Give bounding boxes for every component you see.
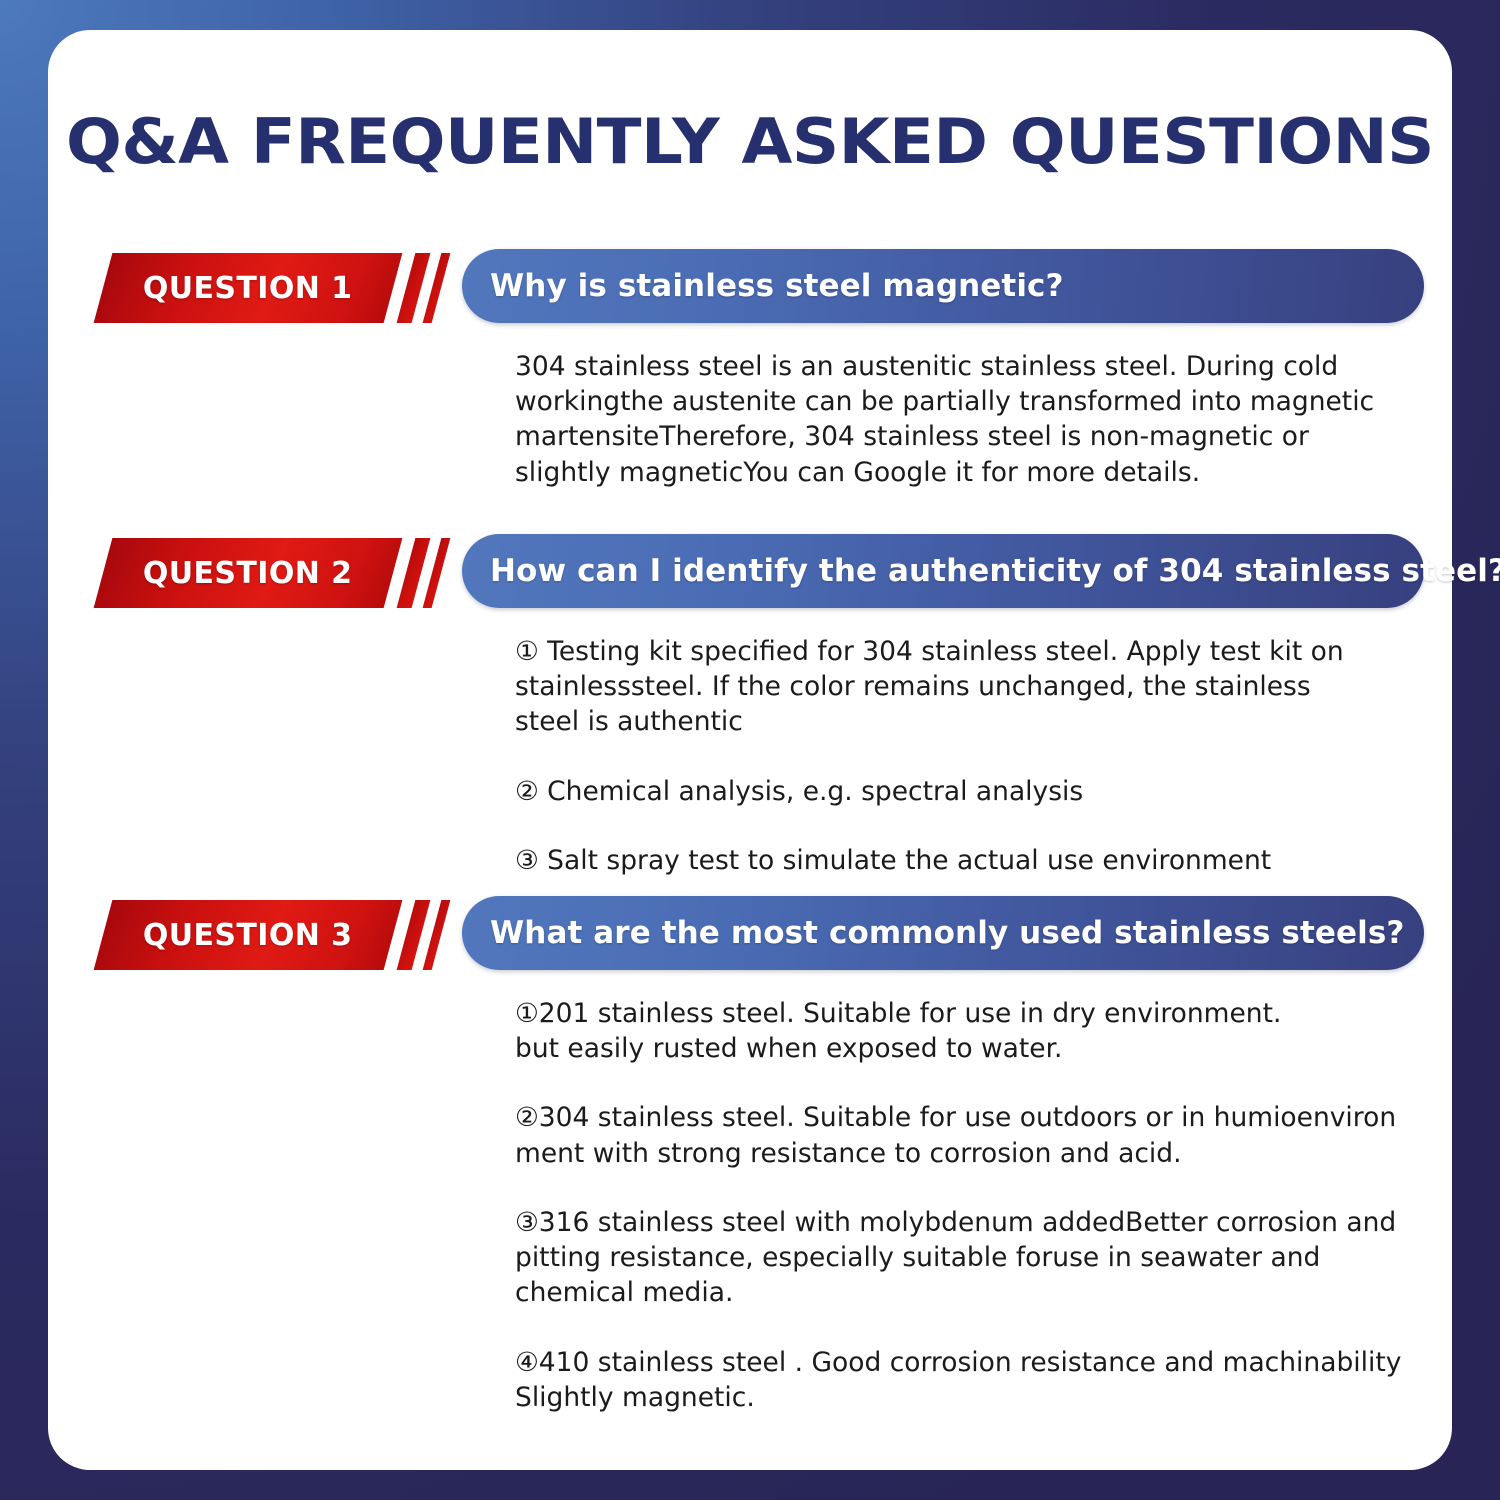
question-text-1: Why is stainless steel magnetic? [462,268,1084,304]
question-banner-3: What are the most commonly used stainles… [462,896,1424,970]
faq-item-2: QUESTION 2 How can I identify the authen… [0,534,1500,612]
answer-body-3: ①201 stainless steel. Suitable for use i… [515,996,1440,1415]
answer-paragraph: 304 stainless steel is an austenitic sta… [515,349,1410,490]
answer-paragraph: ② Chemical analysis, e.g. spectral analy… [515,774,1345,809]
faq-header-3: QUESTION 3 What are the most commonly us… [0,896,1500,974]
answer-paragraph: ① Testing kit specified for 304 stainles… [515,634,1345,740]
question-badge-2: QUESTION 2 [94,538,403,608]
faq-header-2: QUESTION 2 How can I identify the authen… [0,534,1500,612]
answer-paragraph: ④410 stainless steel . Good corrosion re… [515,1345,1440,1415]
answer-paragraph: ③316 stainless steel with molybdenum add… [515,1205,1440,1311]
question-badge-label-3: QUESTION 3 [143,918,353,953]
answer-body-2: ① Testing kit specified for 304 stainles… [515,634,1345,878]
question-badge-1: QUESTION 1 [94,253,403,323]
page-title: Q&A FREQUENTLY ASKED QUESTIONS [6,30,1494,178]
faq-item-1: QUESTION 1 Why is stainless steel magnet… [0,249,1500,327]
question-badge-3: QUESTION 3 [94,900,403,970]
question-badge-label-2: QUESTION 2 [143,556,353,591]
answer-paragraph: ①201 stainless steel. Suitable for use i… [515,996,1440,1066]
answer-paragraph: ②304 stainless steel. Suitable for use o… [515,1100,1440,1170]
question-banner-2: How can I identify the authenticity of 3… [462,534,1424,608]
faq-item-3: QUESTION 3 What are the most commonly us… [0,896,1500,974]
question-text-2: How can I identify the authenticity of 3… [462,553,1500,589]
question-text-3: What are the most commonly used stainles… [462,915,1425,951]
question-badge-label-1: QUESTION 1 [143,271,353,306]
answer-body-1: 304 stainless steel is an austenitic sta… [515,349,1410,490]
faq-header-1: QUESTION 1 Why is stainless steel magnet… [0,249,1500,327]
answer-paragraph: ③ Salt spray test to simulate the actual… [515,843,1345,878]
question-banner-1: Why is stainless steel magnetic? [462,249,1424,323]
